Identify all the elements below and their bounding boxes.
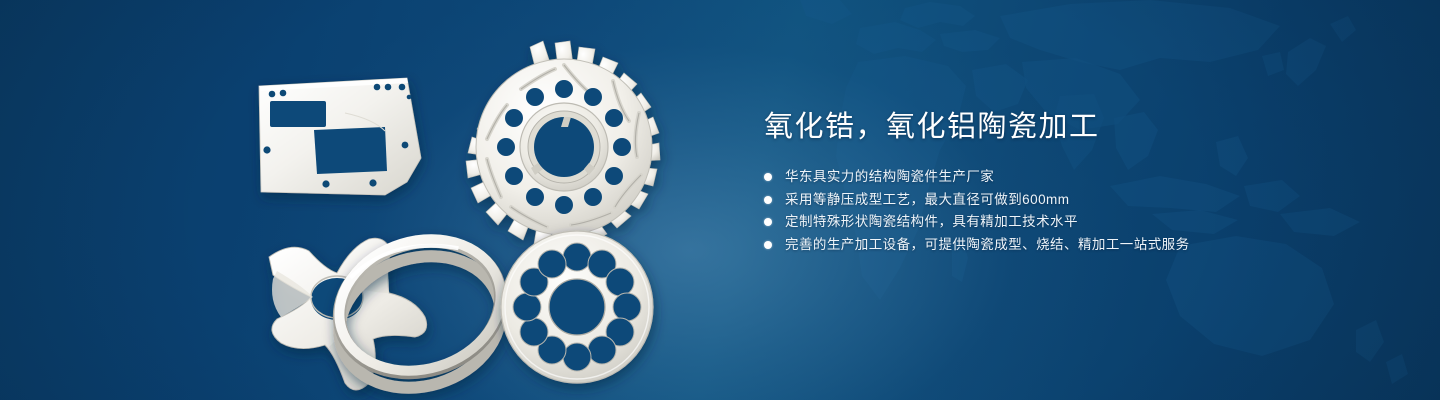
feature-text: 采用等静压成型工艺，最大直径可做到600mm	[785, 189, 1069, 212]
page-title: 氧化锆，氧化铝陶瓷加工	[764, 108, 1384, 146]
promo-banner: 氧化锆，氧化铝陶瓷加工 华东具实力的结构陶瓷件生产厂家 采用等静压成型工艺，最大…	[0, 0, 1440, 400]
ceramic-mounting-plate	[259, 78, 421, 195]
list-item: 华东具实力的结构陶瓷件生产厂家	[764, 166, 1384, 189]
ceramic-bladed-impeller	[466, 41, 660, 248]
list-item: 完善的生产加工设备，可提供陶瓷成型、烧结、精加工一站式服务	[764, 234, 1384, 257]
feature-list: 华东具实力的结构陶瓷件生产厂家 采用等静压成型工艺，最大直径可做到600mm 定…	[764, 166, 1384, 256]
feature-text: 完善的生产加工设备，可提供陶瓷成型、烧结、精加工一站式服务	[785, 234, 1190, 257]
ceramic-products-image	[225, 35, 705, 385]
ceramic-perforated-disc	[501, 231, 653, 383]
feature-text: 华东具实力的结构陶瓷件生产厂家	[785, 166, 994, 189]
list-item: 采用等静压成型工艺，最大直径可做到600mm	[764, 189, 1384, 212]
banner-copy: 氧化锆，氧化铝陶瓷加工 华东具实力的结构陶瓷件生产厂家 采用等静压成型工艺，最大…	[764, 108, 1384, 256]
bullet-dot-icon	[764, 218, 772, 226]
feature-text: 定制特殊形状陶瓷结构件，具有精加工技术水平	[785, 211, 1078, 234]
bullet-dot-icon	[764, 241, 772, 249]
bullet-dot-icon	[764, 173, 772, 181]
bullet-dot-icon	[764, 196, 772, 204]
list-item: 定制特殊形状陶瓷结构件，具有精加工技术水平	[764, 211, 1384, 234]
